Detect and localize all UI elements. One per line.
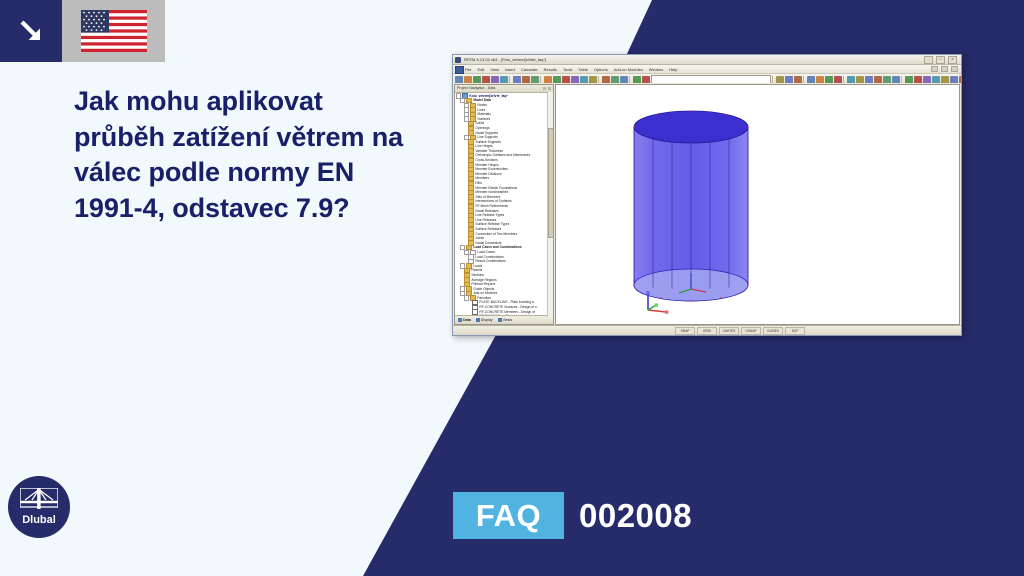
minimize-button[interactable]: – (924, 56, 933, 64)
faq-badge: FAQ (453, 492, 564, 539)
slide-canvas: Jak mohu aplikovat průběh zatížení větre… (0, 0, 1024, 576)
toolbar-separator (772, 76, 775, 83)
tree-spacer (464, 237, 467, 240)
tree-spacer (464, 145, 467, 148)
tree-spacer (464, 200, 467, 203)
window-title: RFEM 5.13.02 x64 - [Polo_vetrem[kri\rfe_… (464, 57, 921, 62)
status-cell-osnap[interactable]: OSNAP (741, 327, 761, 335)
toolbar-separator (509, 76, 512, 83)
tab-views-label: Views (503, 318, 513, 322)
tree-expander-icon[interactable] (464, 295, 469, 300)
menu-bar[interactable]: File Edit View Insert Calculate Results … (453, 65, 961, 74)
tree-spacer (460, 278, 463, 281)
menu-item-view[interactable]: View (490, 67, 499, 72)
menu-item-edit[interactable]: Edit (477, 67, 484, 72)
check-icon (472, 314, 478, 315)
page-title: Jak mohu aplikovat průběh zatížení větre… (74, 84, 404, 227)
tree-spacer (464, 191, 467, 194)
menu-item-help[interactable]: Help (669, 67, 677, 72)
dlubal-wordmark: Dlubal (22, 515, 56, 526)
toolbar-separator (598, 76, 601, 83)
navigator-title: Project Navigator - Data (457, 86, 495, 90)
status-cell-glines[interactable]: GLINES (763, 327, 783, 335)
menu-item-tools[interactable]: Tools (563, 67, 572, 72)
tree-item-label: RF-DYNAM Pro - Dynamic analysis (479, 314, 531, 315)
workspace: Project Navigator - Data Kolo_vetrem[kri… (453, 83, 961, 326)
faq-number: 002008 (579, 492, 692, 539)
toolbar-separator (629, 76, 632, 83)
tree-spacer (468, 301, 471, 304)
axis-triad-icon (642, 289, 672, 315)
close-button[interactable]: ✕ (948, 56, 957, 64)
status-cell-snap[interactable]: SNAP (675, 327, 695, 335)
tab-display-label: Display (481, 318, 493, 322)
menu-item-addon-modules[interactable]: Add-on Modules (614, 67, 643, 72)
window-titlebar: RFEM 5.13.02 x64 - [Polo_vetrem[kri\rfe_… (453, 55, 961, 65)
status-cell-cartes[interactable]: CARTES (719, 327, 739, 335)
tab-views[interactable]: Views (498, 318, 513, 322)
model-tree[interactable]: Kolo_vetrem[kri\rfe_faq*Model DataNodesL… (455, 93, 553, 316)
tree-spacer (464, 232, 467, 235)
tree-spacer (464, 205, 467, 208)
tree-expander-icon[interactable] (460, 263, 465, 268)
document-icon (455, 66, 464, 74)
tree-spacer (464, 140, 467, 143)
tree-spacer (464, 255, 467, 258)
navigator-scrollbar[interactable] (547, 92, 553, 317)
arrow-badge (0, 0, 62, 62)
app-icon (455, 57, 461, 63)
navigator-tabs[interactable]: Data Display Views (455, 315, 553, 324)
dlubal-logo: Dlubal (8, 476, 70, 538)
model-viewport[interactable] (555, 84, 960, 325)
tree-spacer (460, 269, 463, 272)
tree-spacer (464, 127, 467, 130)
tree-spacer (464, 172, 467, 175)
tab-display[interactable]: Display (476, 318, 493, 322)
arrow-down-right-icon (18, 18, 44, 44)
window-controls[interactable]: – □ ✕ (924, 56, 959, 64)
cylinder-model (556, 85, 960, 325)
tree-spacer (464, 154, 467, 157)
toolbar-separator (843, 76, 846, 83)
tree-spacer (464, 218, 467, 221)
menu-item-table[interactable]: Table (578, 67, 588, 72)
menu-item-calculate[interactable]: Calculate (521, 67, 538, 72)
maximize-button[interactable]: □ (936, 56, 945, 64)
tree-spacer (464, 122, 467, 125)
tree-spacer (468, 310, 471, 313)
tree-spacer (460, 274, 463, 277)
menu-item-window[interactable]: Window (649, 67, 663, 72)
menu-item-results[interactable]: Results (544, 67, 557, 72)
tree-spacer (464, 163, 467, 166)
navigator-header-buttons[interactable] (543, 87, 551, 90)
project-navigator[interactable]: Project Navigator - Data Kolo_vetrem[kri… (454, 84, 554, 325)
tree-spacer (468, 306, 471, 309)
tree-spacer (464, 177, 467, 180)
tab-data[interactable]: Data (458, 318, 471, 322)
tree-item[interactable]: RF-DYNAM Pro - Dynamic analysis (456, 314, 553, 315)
tree-spacer (464, 168, 467, 171)
tree-expander-icon[interactable] (464, 116, 469, 121)
mdi-controls[interactable] (931, 66, 958, 72)
toolbar-separator (901, 76, 904, 83)
navigator-header: Project Navigator - Data (455, 85, 553, 93)
tree-expander-icon[interactable] (464, 250, 469, 255)
tree-spacer (464, 182, 467, 185)
toolbar-separator (540, 76, 543, 83)
toolbar-separator (803, 76, 806, 83)
truss-bridge-icon (20, 488, 58, 514)
tree-spacer (464, 195, 467, 198)
rfem-app-window: RFEM 5.13.02 x64 - [Polo_vetrem[kri\rfe_… (452, 54, 962, 336)
menu-item-insert[interactable]: Insert (505, 67, 515, 72)
us-flag-icon (81, 10, 147, 52)
flag-badge (62, 0, 165, 62)
status-bar[interactable]: SNAP GRID CARTES OSNAP GLINES DXF (453, 325, 961, 335)
tree-spacer (464, 149, 467, 152)
tree-spacer (464, 214, 467, 217)
tree-spacer (464, 159, 467, 162)
status-cell-dxf[interactable]: DXF (785, 327, 805, 335)
tree-spacer (464, 186, 467, 189)
status-cell-grid[interactable]: GRID (697, 327, 717, 335)
menu-item-file[interactable]: File (465, 67, 471, 72)
tree-spacer (464, 223, 467, 226)
tree-expander-icon[interactable] (464, 135, 469, 140)
tab-data-label: Data (463, 318, 471, 322)
tree-spacer (464, 228, 467, 231)
tree-spacer (464, 209, 467, 212)
menu-item-options[interactable]: Options (594, 67, 608, 72)
